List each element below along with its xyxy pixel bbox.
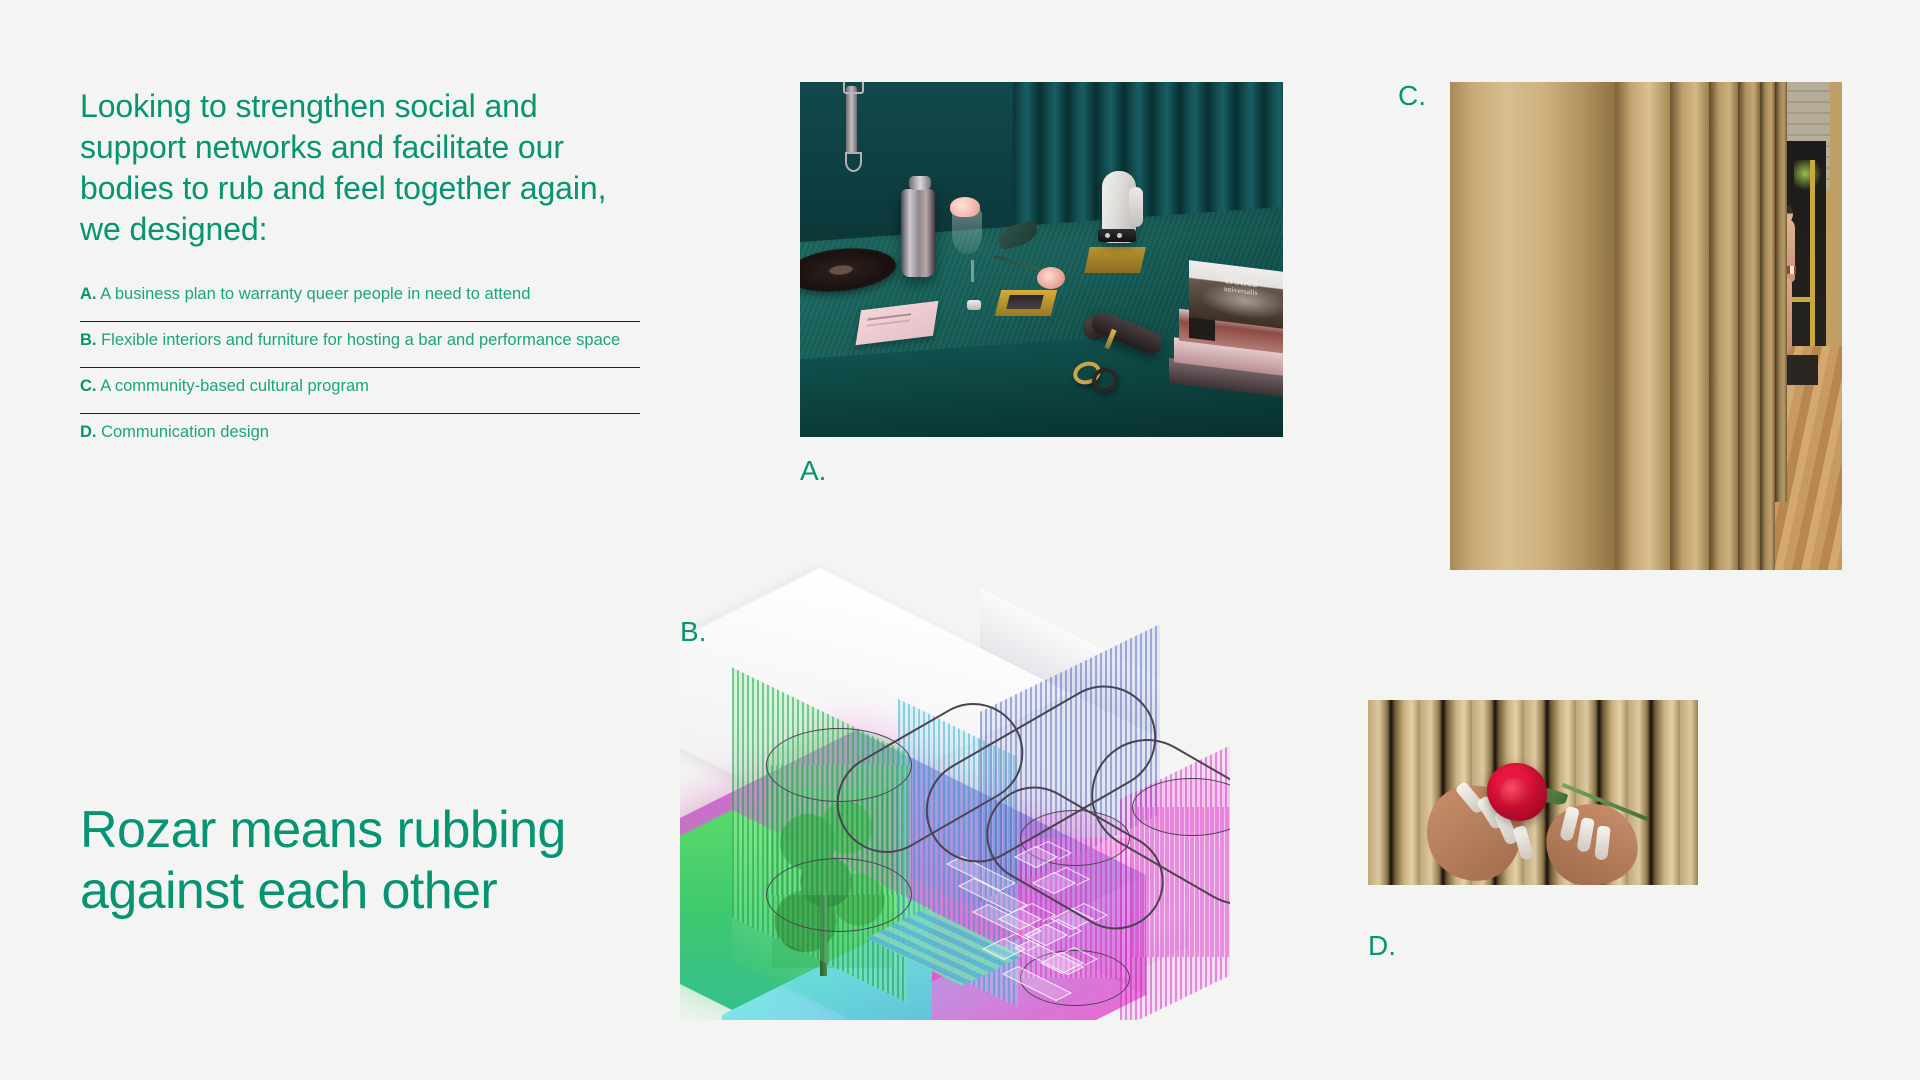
figure-b-image: [680, 560, 1230, 1020]
list-item-key: C.: [80, 377, 97, 395]
list-item-text: Communication design: [101, 423, 269, 441]
list-item-row: A. A business plan to warranty queer peo…: [80, 283, 640, 307]
list-item-text: Flexible interiors and furniture for hos…: [101, 331, 620, 349]
intro-block: Looking to strengthen social and support…: [80, 86, 640, 459]
presentation-slide: Looking to strengthen social and support…: [0, 0, 1920, 1080]
figure-d-image: [1368, 700, 1698, 885]
list-item-text: A business plan to warranty queer people…: [100, 285, 530, 303]
figure-a-label: A.: [800, 455, 826, 487]
list-item-row: B. Flexible interiors and furniture for …: [80, 329, 640, 353]
page-title: Rozar means rubbing against each other: [80, 800, 700, 923]
list-item-row: C. A community-based cultural program: [80, 375, 640, 399]
list-item: A. A business plan to warranty queer peo…: [80, 276, 640, 321]
figure-c-image: [1450, 82, 1842, 570]
list-item: B. Flexible interiors and furniture for …: [80, 322, 640, 367]
intro-heading: Looking to strengthen social and support…: [80, 86, 640, 250]
figure-a-image: erotica universalis: [800, 82, 1283, 437]
figure-c-label: C.: [1398, 80, 1426, 112]
list-item: D. Communication design: [80, 414, 640, 459]
list-item-row: D. Communication design: [80, 421, 640, 445]
designed-list: A. A business plan to warranty queer peo…: [80, 276, 640, 459]
figure-b-label: B.: [680, 616, 706, 648]
list-item-key: A.: [80, 285, 97, 303]
list-item-key: B.: [80, 331, 97, 349]
list-item-text: A community-based cultural program: [100, 377, 369, 395]
figure-d-label: D.: [1368, 930, 1396, 962]
list-item: C. A community-based cultural program: [80, 368, 640, 413]
list-item-key: D.: [80, 423, 97, 441]
